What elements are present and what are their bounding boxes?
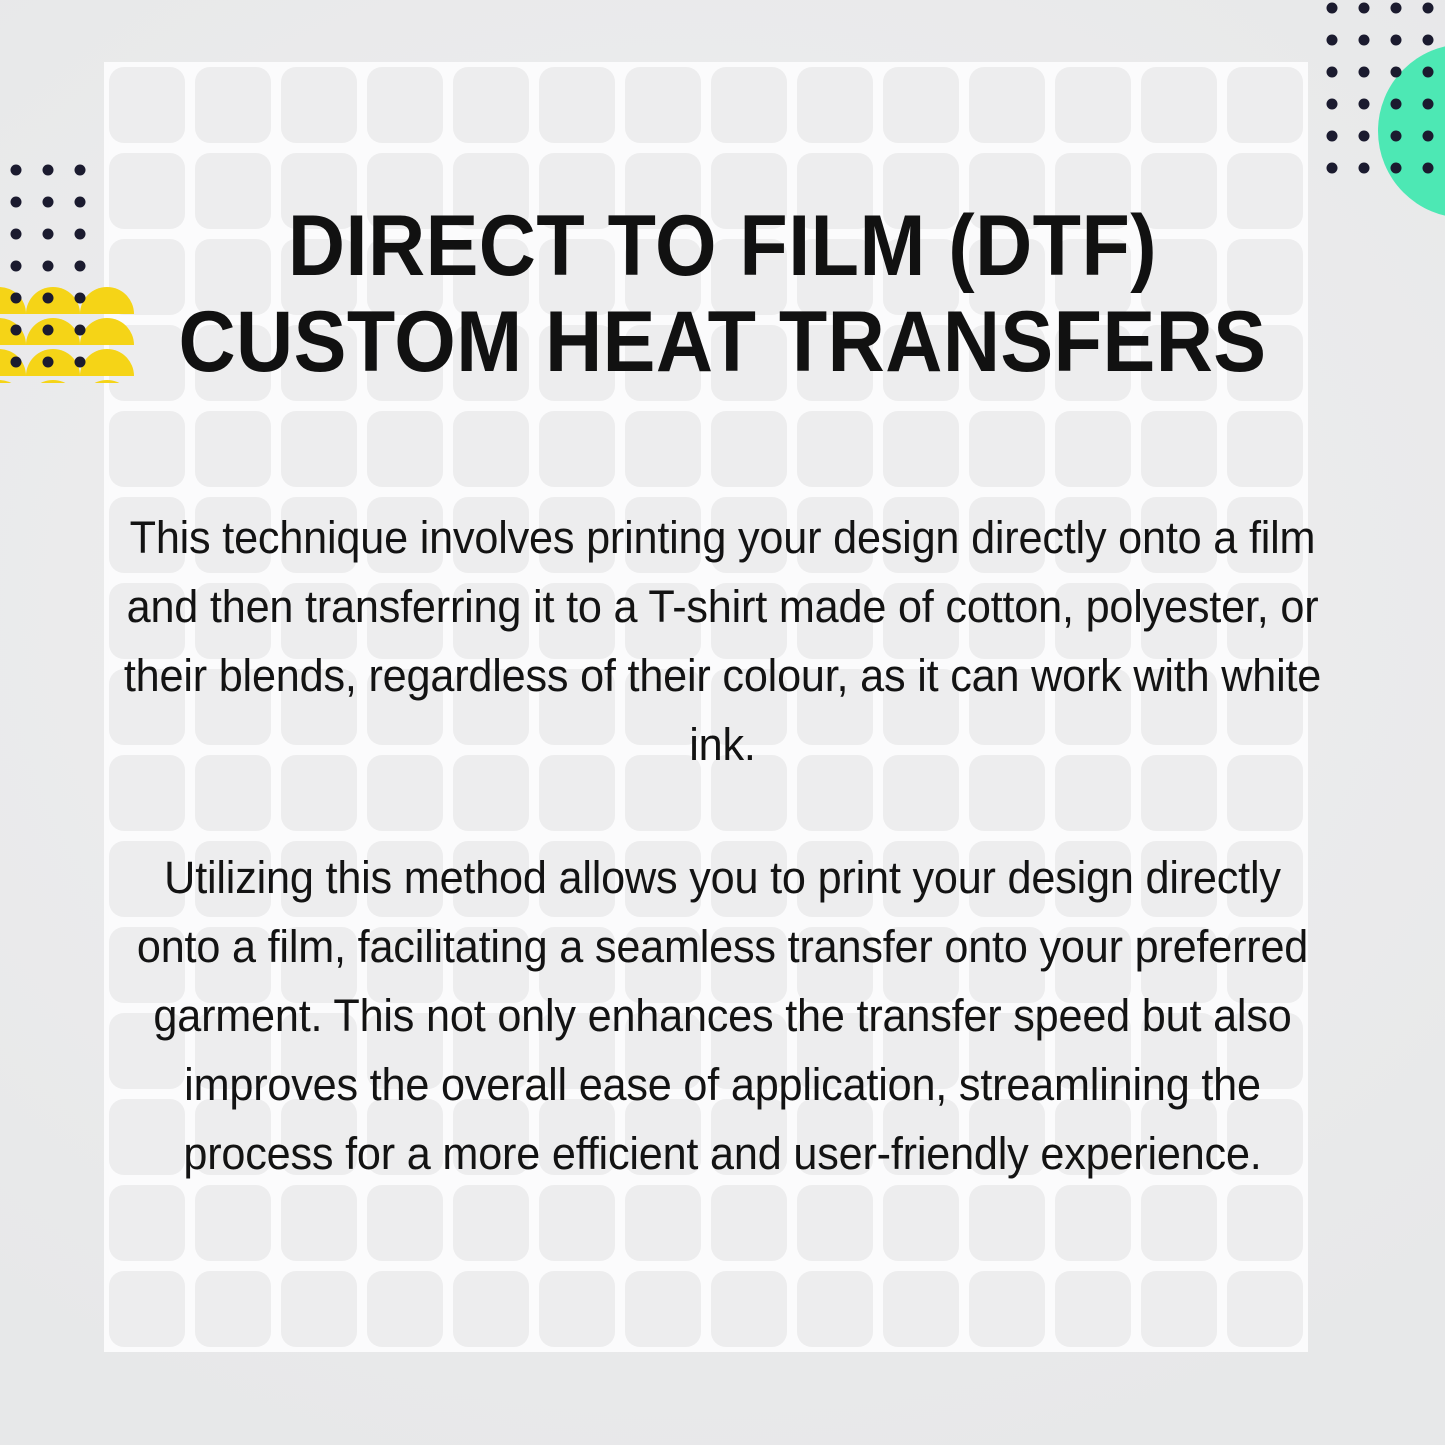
body-paragraph-2: Utilizing this method allows you to prin…	[121, 843, 1324, 1188]
body-paragraph-1: This technique involves printing your de…	[121, 503, 1324, 779]
page-title: DIRECT TO FILM (DTF) CUSTOM HEAT TRANSFE…	[58, 198, 1387, 390]
poster-canvas: DIRECT TO FILM (DTF) CUSTOM HEAT TRANSFE…	[0, 0, 1445, 1445]
poster-content: DIRECT TO FILM (DTF) CUSTOM HEAT TRANSFE…	[0, 0, 1445, 1445]
